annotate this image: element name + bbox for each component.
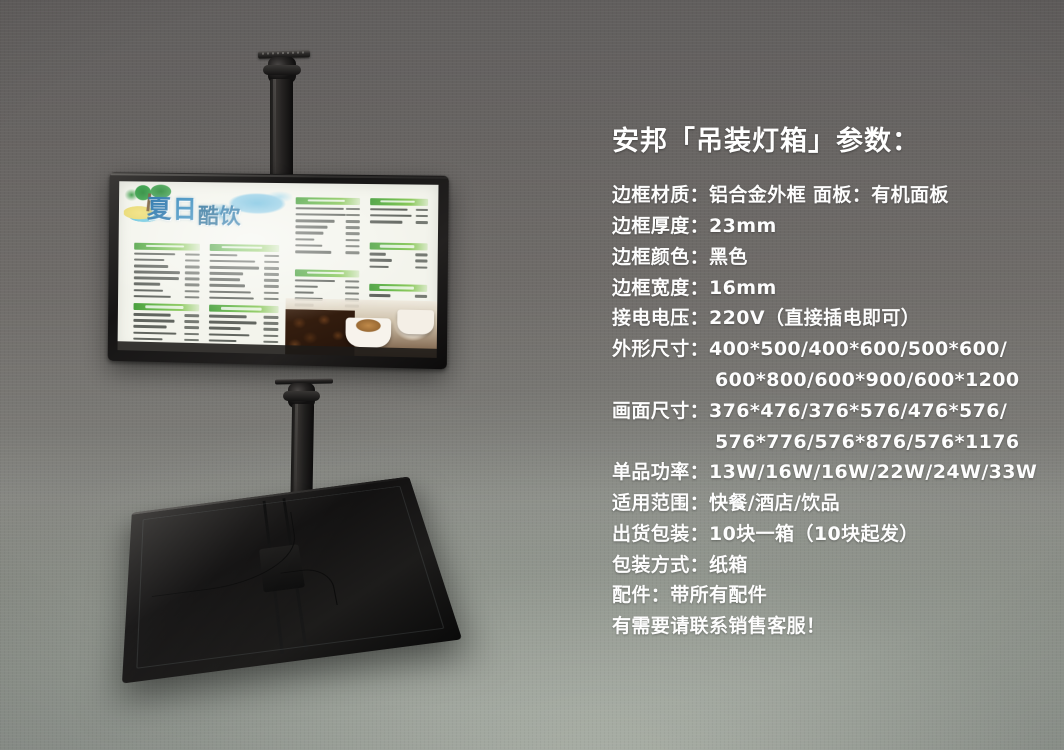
menu-item-row [296, 218, 360, 224]
menu-item-row [369, 252, 428, 258]
menu-item-row [296, 225, 360, 231]
product-photo-canvas: 夏 日 酷 饮 [0, 0, 1064, 750]
menu-section [133, 303, 199, 342]
spec-line: 边框宽度：16mm [612, 273, 1042, 304]
spec-line: 外形尺寸：400*500/400*600/500*600/ [612, 334, 1042, 365]
menu-item-row [295, 243, 359, 249]
menu-section [209, 305, 279, 345]
spec-line: 边框厚度：23mm [612, 211, 1042, 242]
coffee-cup-secondary-icon [397, 309, 434, 335]
menu-item-row [134, 263, 200, 269]
spec-line: 适用范围：快餐/酒店/饮品 [612, 488, 1042, 519]
menu-section [370, 198, 429, 225]
menu-item-row [369, 258, 428, 264]
menu-item-row [296, 206, 360, 211]
menu-item-row [209, 332, 279, 338]
menu-column-1 [134, 242, 200, 303]
spec-line: 包装方式：纸箱 [612, 550, 1042, 581]
menu-section-header [209, 305, 279, 313]
menu-item-row [370, 213, 429, 218]
menu-item-row [209, 271, 279, 277]
menu-item-row [209, 283, 279, 289]
spec-line: 单品功率：13W/16W/16W/22W/24W/33W [612, 457, 1042, 488]
menu-item-row [134, 294, 200, 300]
menu-column-4 [209, 305, 279, 348]
spec-list: 边框材质：铝合金外框 面板：有机面板边框厚度：23mm边框颜色：黑色边框宽度：1… [612, 180, 1042, 641]
spec-line: 边框颜色：黑色 [612, 242, 1042, 273]
menu-item-row [295, 237, 359, 243]
menu-section [369, 284, 428, 299]
menu-item-row [369, 264, 428, 270]
menu-item-row [209, 265, 279, 271]
spec-title: 安邦「吊装灯箱」参数： [612, 126, 1042, 158]
menu-item-row [133, 324, 199, 330]
menu-section-header [369, 243, 428, 251]
spec-line: 有需要请联系销售客服！ [612, 611, 1042, 642]
menu-item-row [209, 277, 279, 283]
menu-item-row [134, 276, 200, 282]
spec-line: 边框材质：铝合金外框 面板：有机面板 [612, 180, 1042, 211]
menu-section [369, 243, 428, 270]
menu-section-header [210, 243, 280, 251]
menu-item-row [134, 270, 200, 276]
menu-item-row [370, 207, 429, 212]
menu-item-row [134, 282, 200, 288]
menu-section-header [134, 242, 200, 250]
menu-item-row [295, 284, 359, 290]
menu-item-row [209, 326, 279, 332]
drop-pole-upper [270, 79, 293, 185]
light-box-front-unit: 夏 日 酷 饮 [108, 172, 449, 369]
menu-item-row [209, 296, 279, 302]
menu-column-7 [370, 198, 429, 228]
spec-line: 出货包装：10块一箱（10块起发） [612, 519, 1042, 550]
menu-item-row [133, 330, 199, 336]
menu-section [134, 242, 200, 300]
menu-section-header [134, 303, 200, 311]
spec-line: 接电电压：220V（直接插电即可） [612, 303, 1042, 334]
menu-section-header [295, 269, 359, 277]
menu-item-row [296, 231, 360, 237]
menu-item-row [133, 318, 199, 324]
menu-item-row [209, 259, 279, 265]
menu-item-row [295, 278, 359, 284]
menu-item-row [295, 249, 359, 255]
menu-column-2 [209, 243, 279, 304]
menu-section [209, 243, 279, 301]
menu-item-row [133, 312, 199, 318]
menu-item-row [209, 320, 279, 326]
menu-column-8 [369, 243, 428, 273]
spec-line: 600*800/600*900/600*1200 [612, 365, 1042, 396]
spec-line: 配件：带所有配件 [612, 580, 1042, 611]
menu-section-header [296, 197, 360, 205]
menu-item-row [296, 212, 360, 217]
menu-item-row [209, 289, 279, 295]
light-box-menu-panel: 夏 日 酷 饮 [118, 181, 439, 358]
menu-section-header [369, 284, 428, 292]
menu-item-row [134, 257, 200, 263]
rear-mounting-bracket [259, 544, 304, 592]
menu-section-header [370, 198, 429, 206]
spec-panel: 安邦「吊装灯箱」参数： 边框材质：铝合金外框 面板：有机面板边框厚度：23mm边… [612, 126, 1042, 642]
spec-line: 画面尺寸：376*476/376*576/476*576/ [612, 396, 1042, 427]
menu-item-row [295, 290, 359, 296]
coffee-cup-icon [345, 317, 391, 348]
menu-item-row [370, 219, 429, 224]
spec-line: 576*776/576*876/576*1176 [612, 427, 1042, 458]
menu-item-row [134, 288, 200, 294]
menu-item-row [209, 314, 279, 320]
menu-item-row [134, 251, 200, 257]
menu-column-5 [295, 197, 360, 258]
menu-section [295, 197, 360, 255]
menu-item-row [209, 252, 279, 258]
menu-column-3 [133, 303, 199, 345]
menu-item-row [369, 293, 428, 299]
